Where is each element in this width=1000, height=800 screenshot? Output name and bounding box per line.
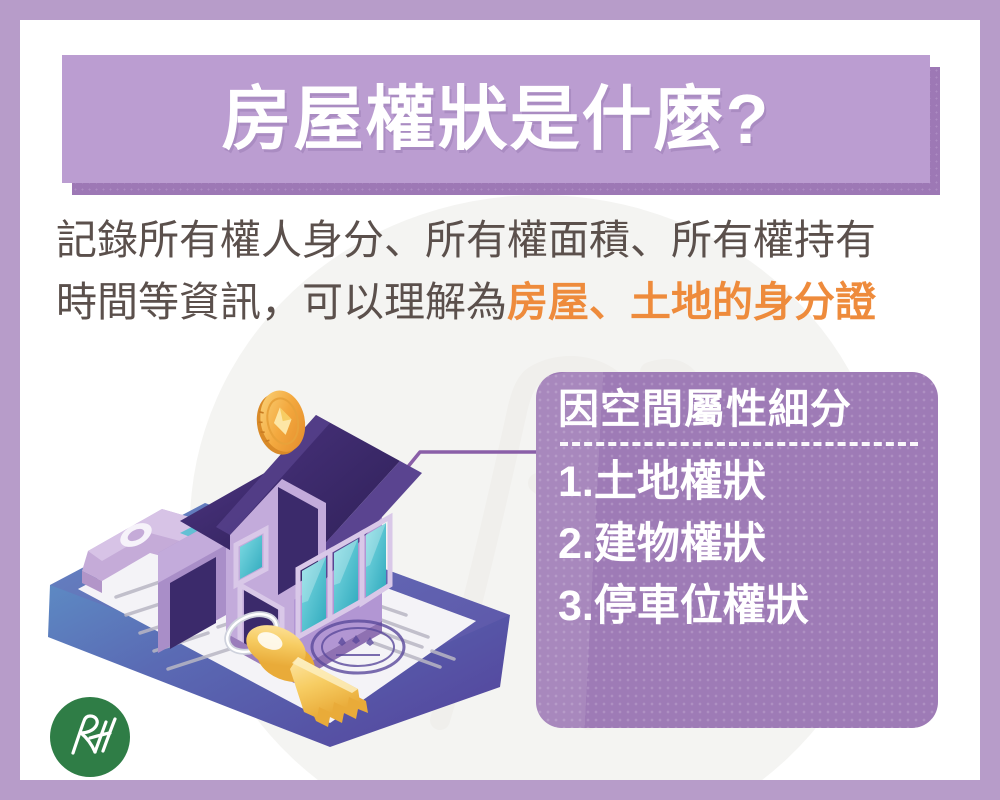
list-item: 3.停車位權狀 [558, 576, 920, 638]
list-item: 2.建物權狀 [558, 514, 920, 576]
list-item: 1.土地權狀 [558, 452, 920, 514]
panel-heading: 因空間屬性細分 [558, 386, 920, 433]
body-paragraph: 記錄所有權人身分、所有權面積、所有權持有 時間等資訊，可以理解為房屋、土地的身分… [56, 210, 956, 333]
infographic-poster: 房屋權狀是什麼? 記錄所有權人身分、所有權面積、所有權持有 時間等資訊，可以理解… [0, 0, 1000, 800]
title-banner: 房屋權狀是什麼? [62, 55, 962, 195]
panel-content: 因空間屬性細分 1.土地權狀 2.建物權狀 3.停車位權狀 [558, 386, 920, 638]
body-line-2-highlight: 房屋、土地的身分證 [507, 279, 876, 325]
category-panel: 因空間屬性細分 1.土地權狀 2.建物權狀 3.停車位權狀 [536, 372, 938, 728]
poster-canvas: 房屋權狀是什麼? 記錄所有權人身分、所有權面積、所有權持有 時間等資訊，可以理解… [20, 20, 980, 780]
body-line-1: 記錄所有權人身分、所有權面積、所有權持有 [56, 210, 956, 272]
rh-logo [48, 695, 132, 779]
page-title: 房屋權狀是什麼? [222, 84, 771, 154]
body-line-2-prefix: 時間等資訊，可以理解為 [56, 279, 507, 325]
panel-divider [560, 442, 918, 446]
panel-item-list: 1.土地權狀 2.建物權狀 3.停車位權狀 [558, 452, 920, 638]
body-line-2: 時間等資訊，可以理解為房屋、土地的身分證 [56, 272, 956, 334]
title-banner-block: 房屋權狀是什麼? [62, 55, 930, 183]
